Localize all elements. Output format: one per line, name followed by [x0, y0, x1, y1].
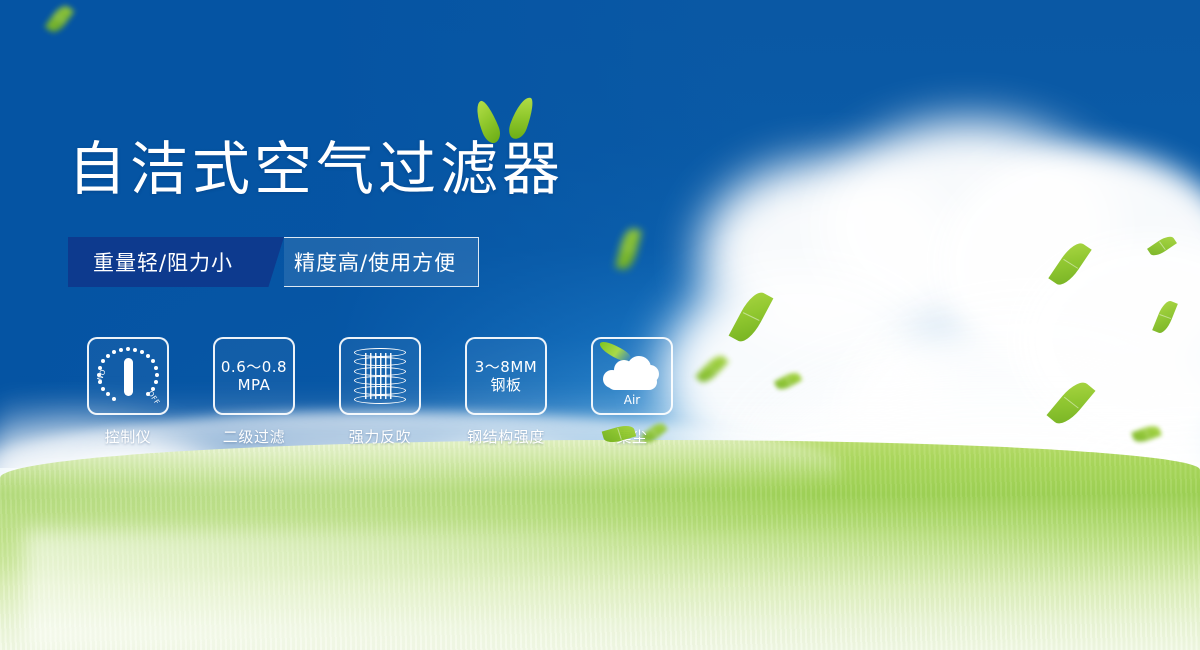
grass-path-highlight — [24, 530, 1080, 650]
feature-icon-box: Air — [591, 337, 673, 415]
feature-label: 控制仪 — [105, 426, 152, 447]
title-sprout-icon — [473, 92, 543, 150]
subtitle-right: 精度高/使用方便 — [284, 237, 479, 287]
subtitle-divider — [258, 237, 284, 287]
feature-item-secondary-filtration[interactable]: 0.6～0.8 MPA 二级过滤 — [202, 337, 306, 447]
subtitle-bar: 重量轻/阻力小 精度高/使用方便 — [68, 237, 479, 287]
gauge-label-no: NO — [96, 368, 108, 382]
pressure-unit: MPA — [221, 376, 287, 394]
pressure-text-icon: 0.6～0.8 MPA — [221, 358, 287, 394]
subtitle-left: 重量轻/阻力小 — [68, 237, 258, 287]
steel-material: 钢板 — [475, 376, 537, 394]
feature-icon-box: 0.6～0.8 MPA — [213, 337, 295, 415]
feature-label: 钢结构强度 — [467, 426, 545, 447]
air-label: Air — [601, 393, 663, 407]
pressure-range: 0.6～0.8 — [221, 358, 287, 376]
feature-label: 二级过滤 — [223, 426, 285, 447]
feature-item-strong-backblow[interactable]: 强力反吹 — [328, 337, 432, 447]
feature-item-steel-strength[interactable]: 3～8MM 钢板 钢结构强度 — [454, 337, 558, 447]
feature-icon-box: 3～8MM 钢板 — [465, 337, 547, 415]
feature-list: NO OFF 控制仪 0.6～0.8 MPA 二级过滤 — [76, 337, 684, 447]
gauge-icon: NO OFF — [97, 347, 159, 405]
feature-icon-box: NO OFF — [87, 337, 169, 415]
filter-cartridge-icon — [354, 348, 406, 404]
feature-label: 强力反吹 — [349, 426, 411, 447]
cloud-air-icon: Air — [601, 348, 663, 404]
steel-thickness: 3～8MM — [475, 358, 537, 376]
gauge-needle — [124, 358, 133, 396]
feature-icon-box — [339, 337, 421, 415]
feature-item-control-instrument[interactable]: NO OFF 控制仪 — [76, 337, 180, 447]
title-block: 自洁式空气过滤器 — [68, 140, 564, 198]
product-banner: 自洁式空气过滤器 重量轻/阻力小 精度高/使用方便 — [0, 0, 1200, 650]
steel-text-icon: 3～8MM 钢板 — [475, 358, 537, 394]
gauge-label-off: OFF — [146, 390, 161, 407]
